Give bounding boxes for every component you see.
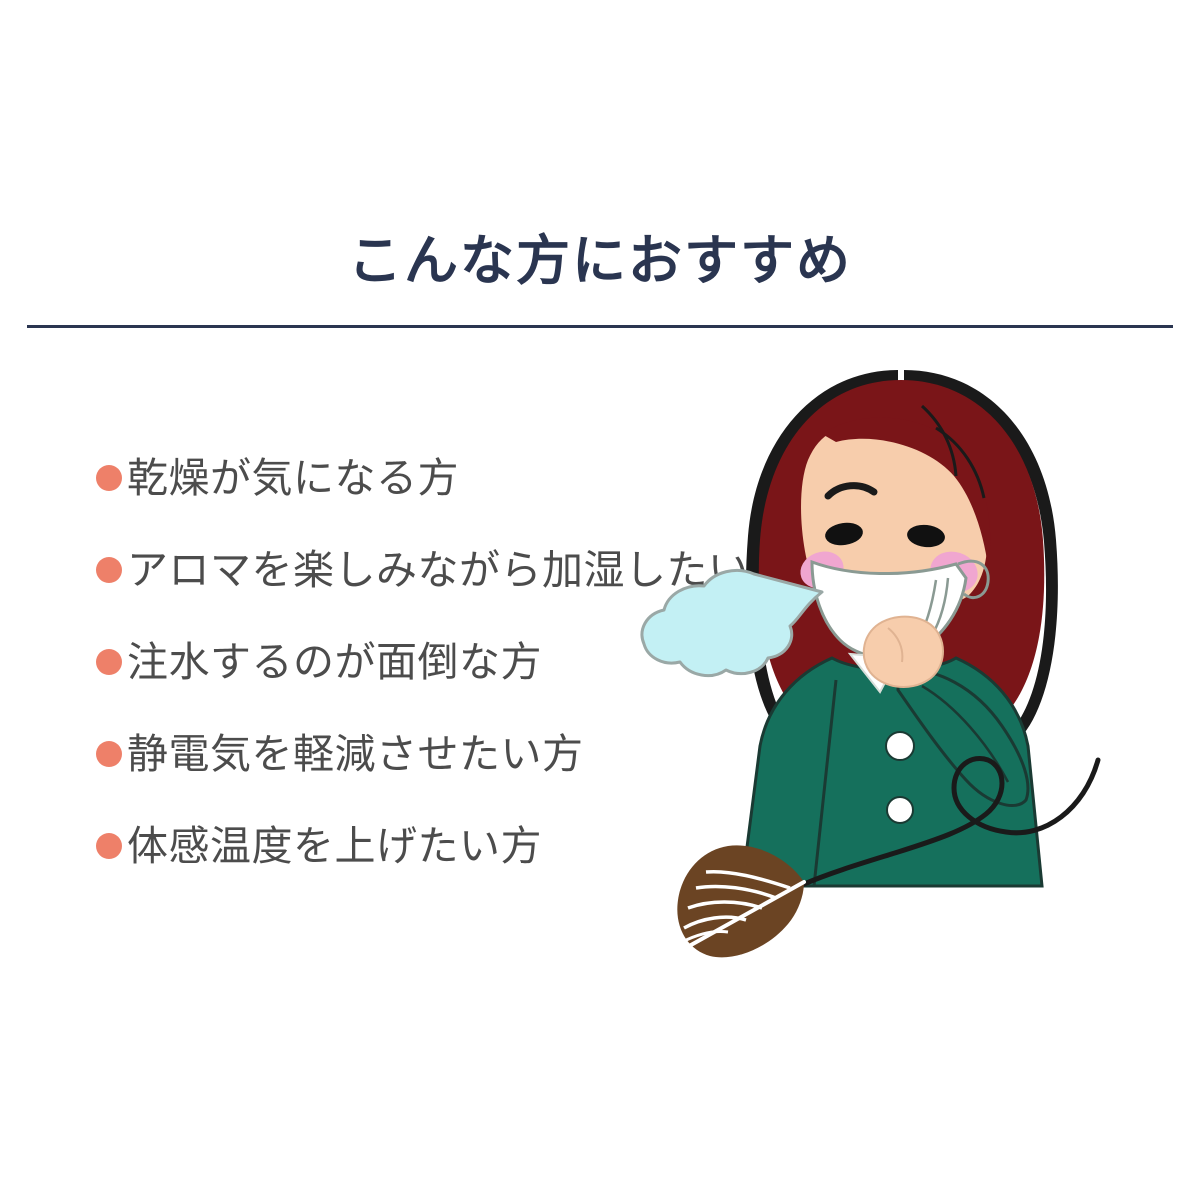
list-item-label: 体感温度を上げたい方 [127,826,542,867]
fist-shape [864,617,943,687]
list-item-label: 静電気を軽減させたい方 [127,734,584,775]
woman-with-mask-illustration [636,340,1136,970]
title-divider [27,325,1173,328]
bullet-dot-icon [96,649,122,675]
button-upper [886,732,914,760]
bullet-dot-icon [96,557,122,583]
bullet-dot-icon [96,741,122,767]
list-item-label: 乾燥が気になる方 [127,458,459,499]
bullet-dot-icon [96,833,122,859]
list-item-label: 注水するのが面倒な方 [127,642,542,683]
slide-canvas: こんな方におすすめ 乾燥が気になる方 アロマを楽しみながら加湿したい方 注水する… [0,0,1200,1200]
bullet-dot-icon [96,465,122,491]
button-lower [887,797,913,823]
page-title: こんな方におすすめ [0,231,1200,290]
